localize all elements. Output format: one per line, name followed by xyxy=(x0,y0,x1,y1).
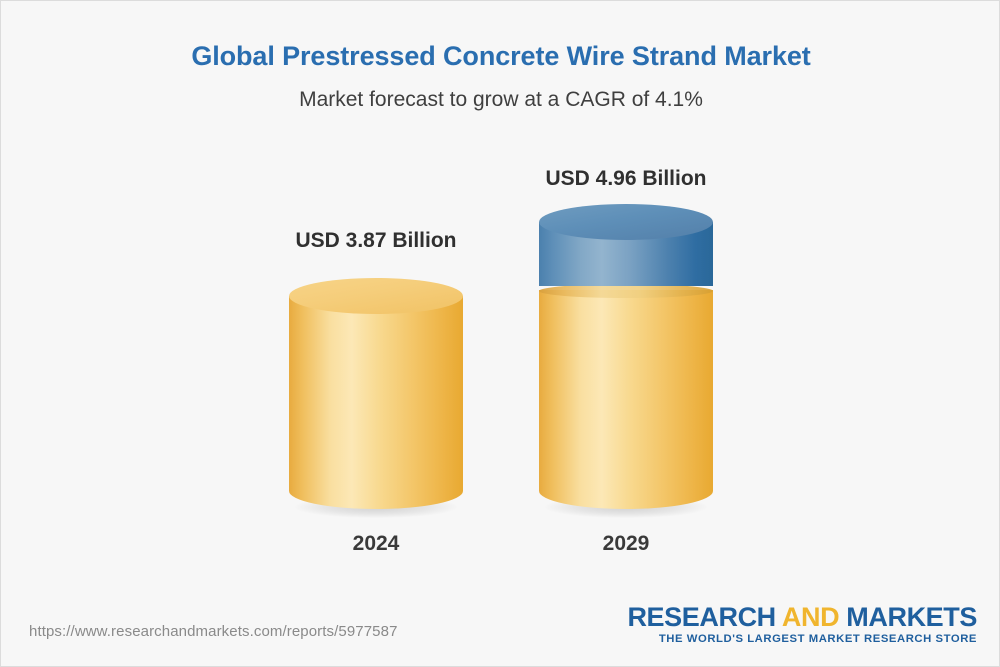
category-label-2029: 2029 xyxy=(536,532,716,556)
logo-wordmark: RESEARCH AND MARKETS xyxy=(627,603,977,631)
bar-body-yellow xyxy=(289,296,463,491)
bar-cylinder-2024 xyxy=(289,278,463,509)
bar-top-ellipse-yellow xyxy=(289,278,463,314)
bar-top-ellipse-blue xyxy=(539,204,713,240)
logo-word-markets: MARKETS xyxy=(846,602,977,632)
logo-word-and: AND xyxy=(782,602,839,632)
bar-body-yellow xyxy=(539,290,713,491)
category-label-2024: 2024 xyxy=(286,532,466,556)
value-label-2029: USD 4.96 Billion xyxy=(536,167,716,191)
logo-word-research: RESEARCH xyxy=(627,602,775,632)
chart-canvas: Global Prestressed Concrete Wire Strand … xyxy=(0,0,1000,667)
chart-subtitle: Market forecast to grow at a CAGR of 4.1… xyxy=(1,88,1000,112)
report-url[interactable]: https://www.researchandmarkets.com/repor… xyxy=(29,623,398,640)
bar-cylinder-2029 xyxy=(539,204,713,509)
research-and-markets-logo[interactable]: RESEARCH AND MARKETS THE WORLD'S LARGEST… xyxy=(627,603,977,645)
page-title: Global Prestressed Concrete Wire Strand … xyxy=(1,41,1000,72)
bar-segment-seam xyxy=(539,284,713,298)
value-label-2024: USD 3.87 Billion xyxy=(286,229,466,253)
logo-tagline: THE WORLD'S LARGEST MARKET RESEARCH STOR… xyxy=(627,633,977,645)
